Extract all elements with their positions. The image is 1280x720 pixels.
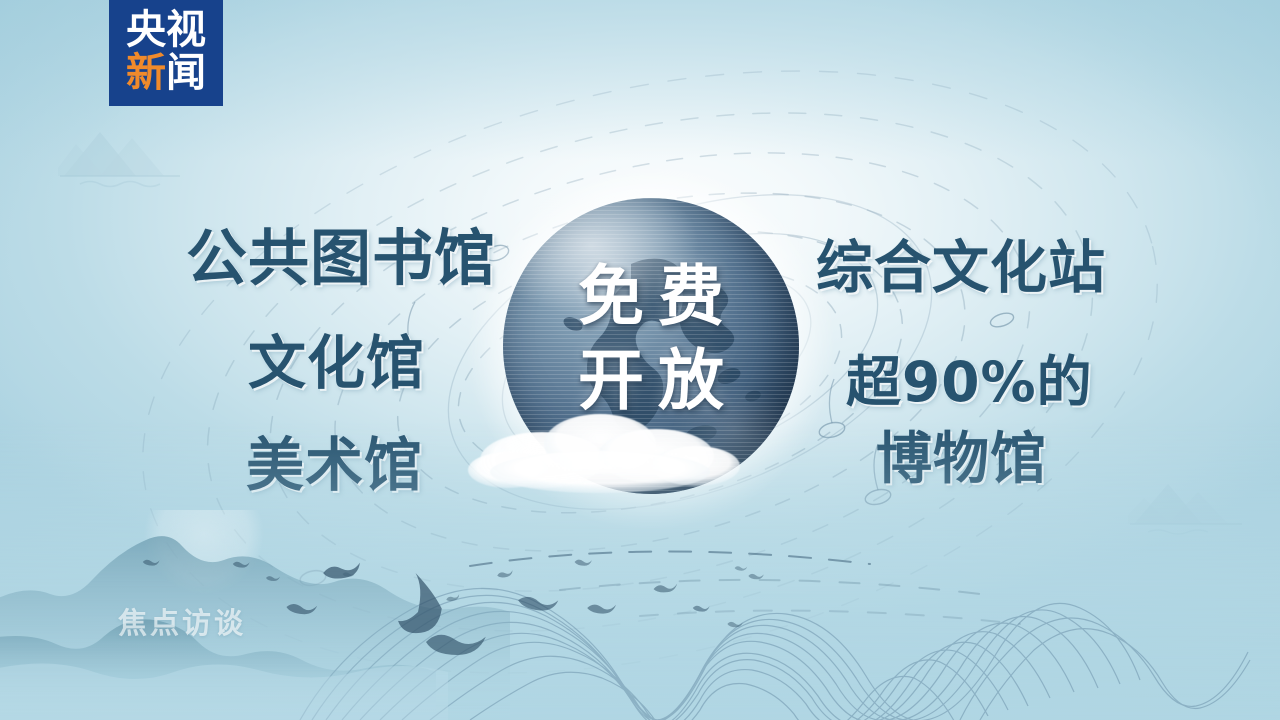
bird-icon bbox=[517, 596, 558, 612]
bird-icon bbox=[693, 606, 710, 612]
bird-icon bbox=[322, 562, 362, 581]
bird-icon bbox=[233, 562, 250, 568]
logo-char-wen: 闻 bbox=[166, 53, 206, 93]
bird-icon bbox=[446, 594, 461, 603]
bird-icon bbox=[587, 605, 616, 614]
bird-icon bbox=[735, 566, 748, 570]
program-watermark: 焦点访谈 bbox=[118, 600, 246, 642]
logo-char-xin: 新 bbox=[126, 53, 166, 93]
bird-icon bbox=[653, 583, 678, 593]
cctv-news-logo: 央视 新 闻 bbox=[109, 0, 223, 106]
bird-icon bbox=[426, 635, 486, 655]
cloud-icon bbox=[450, 398, 750, 506]
logo-line-2: 新 闻 bbox=[126, 53, 206, 93]
broadcast-graphic-frame: 免费 开放 公共图书馆 文化馆 美术馆 综合文化站 超90%的 博物馆 bbox=[0, 0, 1280, 720]
bird-icon bbox=[286, 603, 317, 615]
bird-icon bbox=[748, 574, 763, 579]
bird-icon bbox=[497, 570, 514, 579]
bird-icon bbox=[266, 576, 280, 581]
bird-icon bbox=[727, 622, 742, 627]
bird-icon bbox=[392, 570, 445, 636]
center-headline-line1: 免费 bbox=[503, 255, 799, 339]
logo-line-1: 央视 bbox=[126, 10, 206, 50]
bird-icon bbox=[575, 560, 592, 566]
bird-icon bbox=[143, 560, 160, 566]
